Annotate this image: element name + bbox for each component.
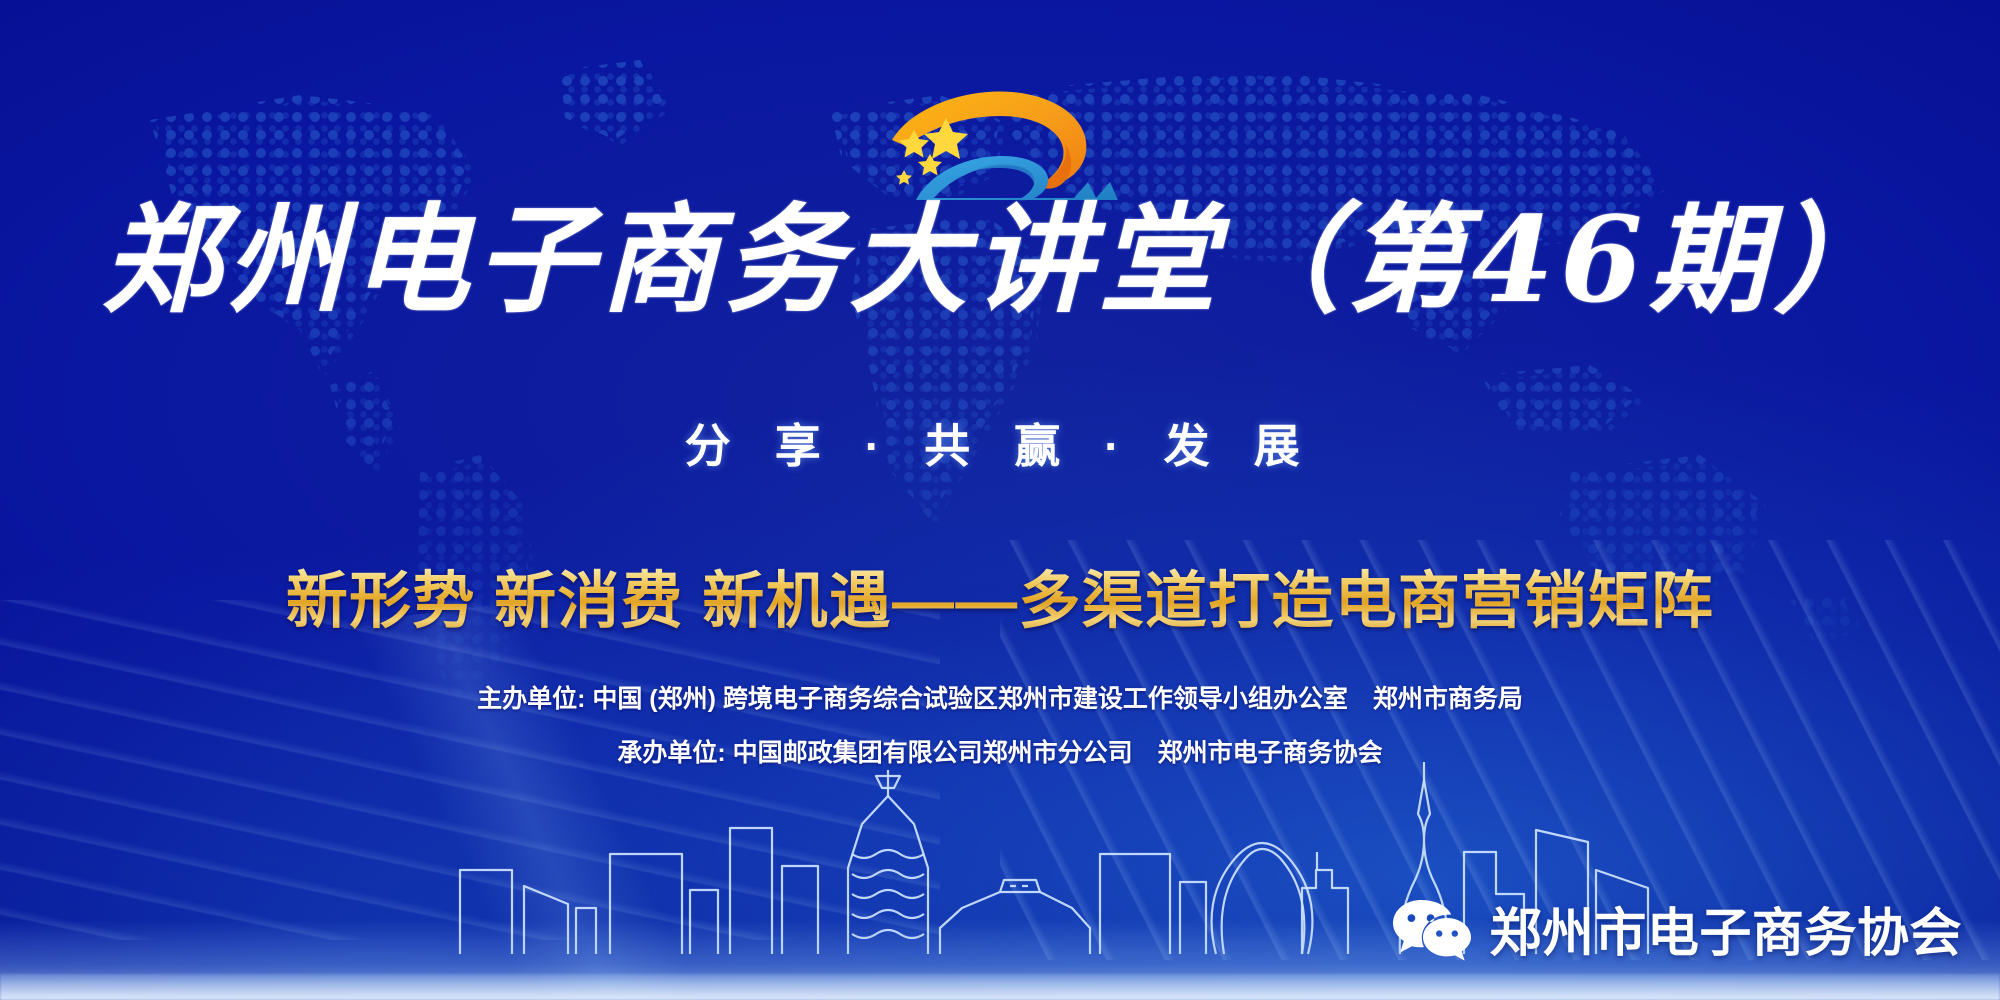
zhengzhou-ecommerce-swoosh-logo	[860, 78, 1140, 208]
co-organizer-organizations: 承办单位: 中国邮政集团有限公司郑州市分公司 郑州市电子商务协会	[0, 733, 2000, 769]
wechat-account-badge: 郑州市电子商务协会	[1393, 891, 1962, 966]
session-headline: 新形势 新消费 新机遇——多渠道打造电商营销矩阵	[0, 550, 2000, 640]
wechat-icon	[1393, 896, 1471, 962]
poster-canvas: 郑州电子商务大讲堂（第46期） 分 享 · 共 赢 · 发 展 新形势 新消费 …	[0, 0, 2000, 1000]
wechat-account-name: 郑州市电子商务协会	[1489, 891, 1962, 966]
host-organizations: 主办单位: 中国 (郑州) 跨境电子商务综合试验区郑州市建设工作领导小组办公室 …	[0, 679, 2000, 715]
page-subtitle: 分 享 · 共 赢 · 发 展	[0, 410, 2000, 476]
page-title: 郑州电子商务大讲堂（第46期）	[0, 196, 2000, 323]
light-ray-left	[0, 600, 940, 940]
horizon-line	[0, 974, 2000, 1000]
